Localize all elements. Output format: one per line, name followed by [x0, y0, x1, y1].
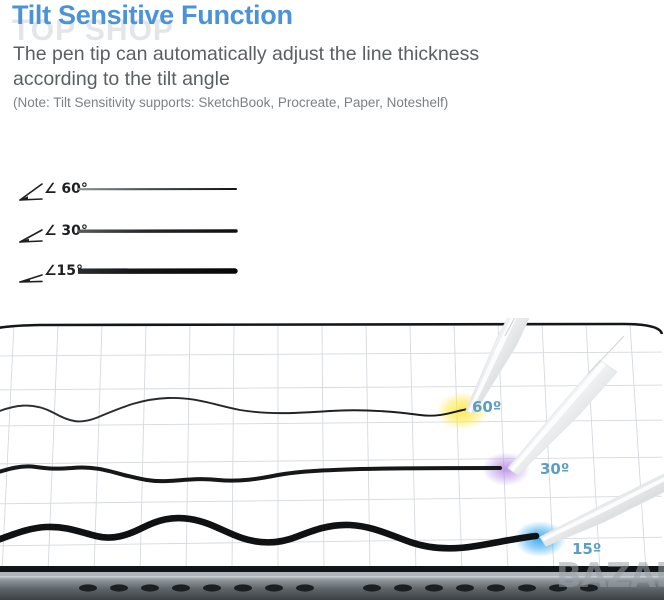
angle-60-icon: [18, 182, 44, 202]
angle-tag-30: 30º: [540, 460, 569, 478]
header-block: TOP SHOP Tilt Sensitive Function The pen…: [0, 0, 664, 130]
legend-stroke-15: [78, 260, 238, 282]
page-subtitle: The pen tip can automatically adjust the…: [13, 42, 533, 92]
bazar-watermark: BAZAR: [556, 556, 664, 596]
page-title: Tilt Sensitive Function: [12, 0, 293, 31]
legend-row: ∠ 30°: [0, 220, 300, 250]
tilt-angle-legend: ∠ 60°: [0, 178, 300, 293]
angle-tag-60: 60º: [472, 398, 501, 416]
legend-stroke-30: [78, 220, 238, 242]
angle-15-icon: [18, 264, 44, 284]
legend-stroke-60: [78, 178, 238, 200]
product-feature-page: TOP SHOP Tilt Sensitive Function The pen…: [0, 0, 664, 600]
compatibility-note: (Note: Tilt Sensitivity supports: Sketch…: [13, 95, 448, 110]
legend-row: ∠ 60°: [0, 178, 300, 208]
legend-row: ∠15°: [0, 260, 300, 290]
angle-30-icon: [18, 224, 44, 244]
